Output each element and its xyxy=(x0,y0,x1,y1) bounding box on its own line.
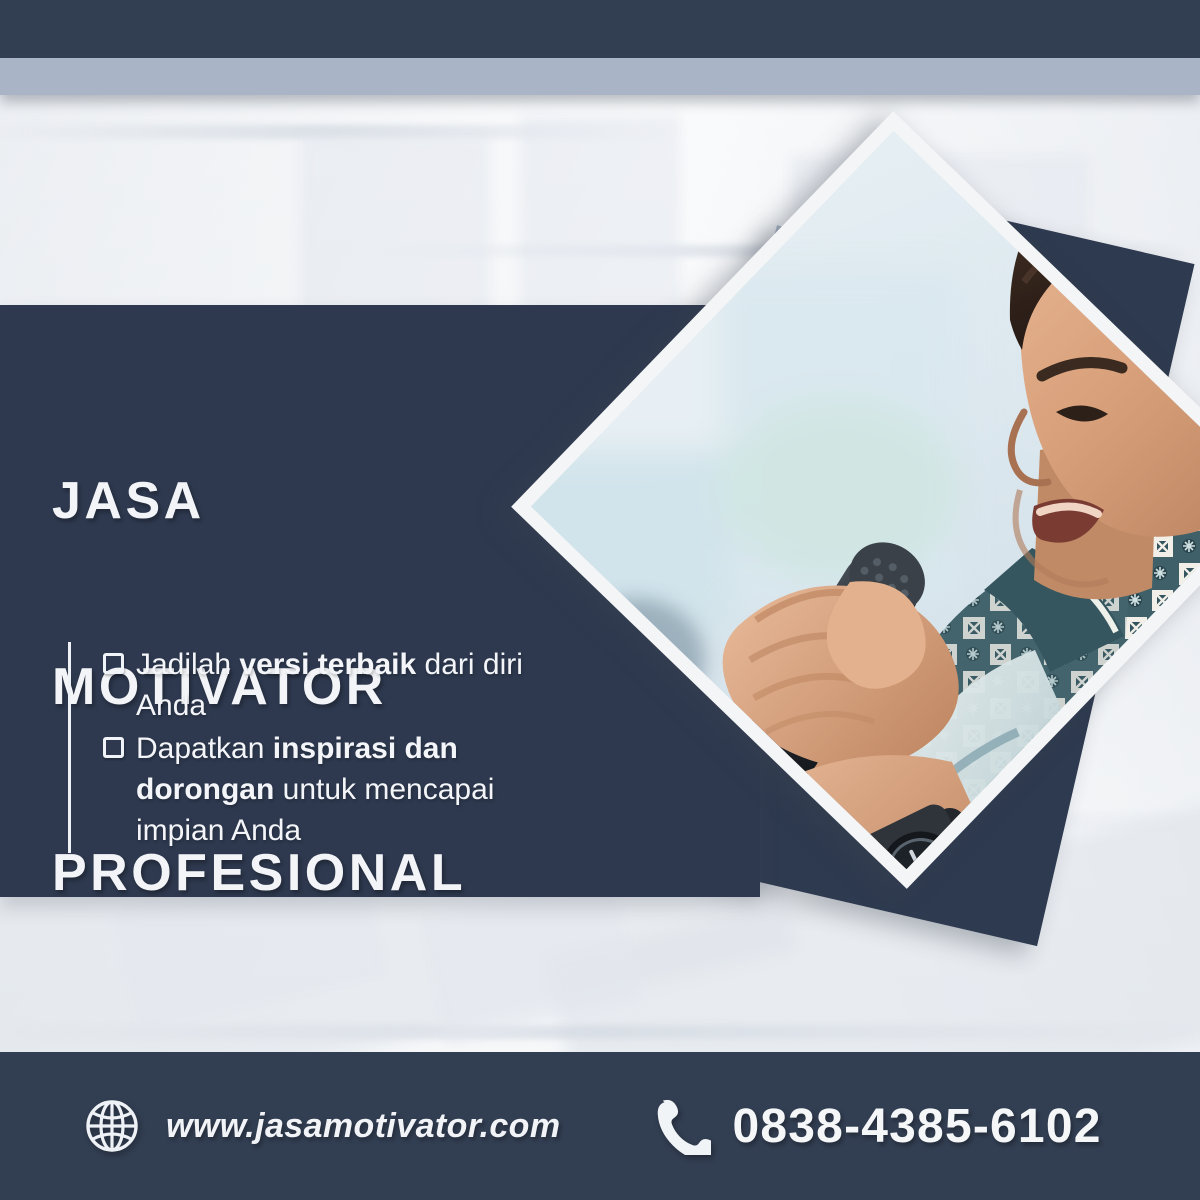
benefit-text: Jadilah versi terbaik dari diri Anda xyxy=(136,644,553,726)
checkbox-square-icon xyxy=(103,737,124,758)
phone-icon xyxy=(653,1097,711,1155)
top-bar-light xyxy=(0,58,1200,95)
globe-icon xyxy=(84,1098,140,1154)
website-text: www.jasamotivator.com xyxy=(166,1107,561,1146)
phone-text: 0838-4385-6102 xyxy=(733,1099,1102,1154)
title-line-1: JASA xyxy=(52,470,466,532)
benefits-list: Jadilah versi terbaik dari diri AndaDapa… xyxy=(68,642,553,853)
benefit-text: Dapatkan inspirasi dan dorongan untuk me… xyxy=(136,728,553,851)
benefit-item: Jadilah versi terbaik dari diri Anda xyxy=(103,644,553,726)
website-contact[interactable]: www.jasamotivator.com xyxy=(84,1098,561,1154)
poster-canvas: JASA MOTIVATOR PROFESIONAL Jadilah versi… xyxy=(0,0,1200,1200)
checkbox-square-icon xyxy=(103,653,124,674)
benefit-item: Dapatkan inspirasi dan dorongan untuk me… xyxy=(103,728,553,851)
phone-contact[interactable]: 0838-4385-6102 xyxy=(653,1097,1102,1155)
benefits-items: Jadilah versi terbaik dari diri AndaDapa… xyxy=(103,642,553,853)
contact-footer: www.jasamotivator.com 0838-4385-6102 xyxy=(0,1052,1200,1200)
top-bar-dark xyxy=(0,0,1200,58)
accent-divider xyxy=(68,642,71,853)
